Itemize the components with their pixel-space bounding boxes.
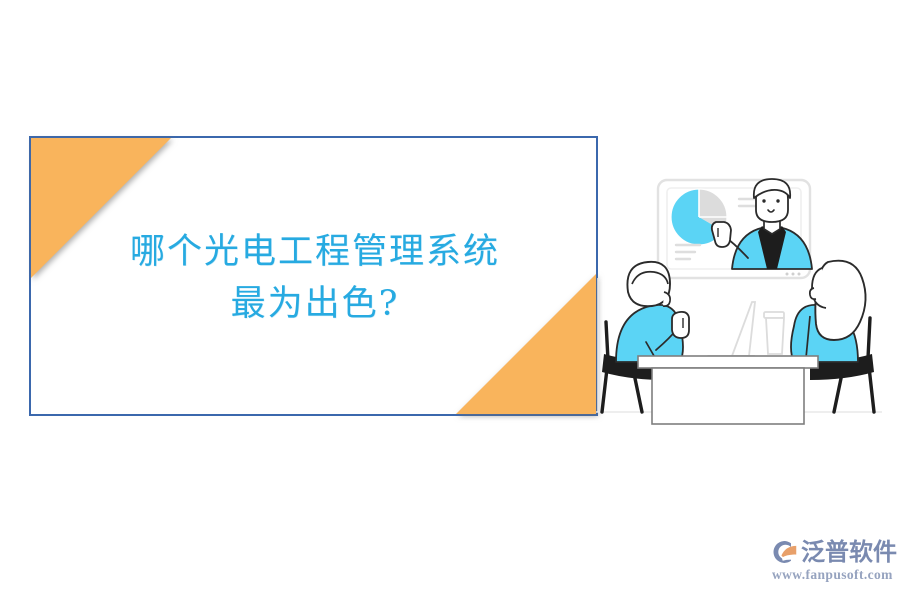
laptop-icon: [704, 302, 755, 361]
coffee-cup-icon: [764, 312, 784, 354]
brand-website-url: www.fanpusoft.com: [772, 567, 892, 583]
banner-title: 哪个光电工程管理系统 最为出色?: [60, 226, 570, 330]
brand-name-cn: 泛普软件: [801, 538, 897, 566]
wall-display-icon: [658, 179, 812, 278]
video-conference-illustration: [596, 166, 882, 432]
page-canvas: 哪个光电工程管理系统 最为出色?: [0, 0, 900, 600]
fanpu-logo-mark-icon: [770, 538, 798, 566]
desk-icon: [638, 356, 818, 424]
brand-logo: 泛普软件 www.fanpusoft.com: [770, 538, 892, 584]
